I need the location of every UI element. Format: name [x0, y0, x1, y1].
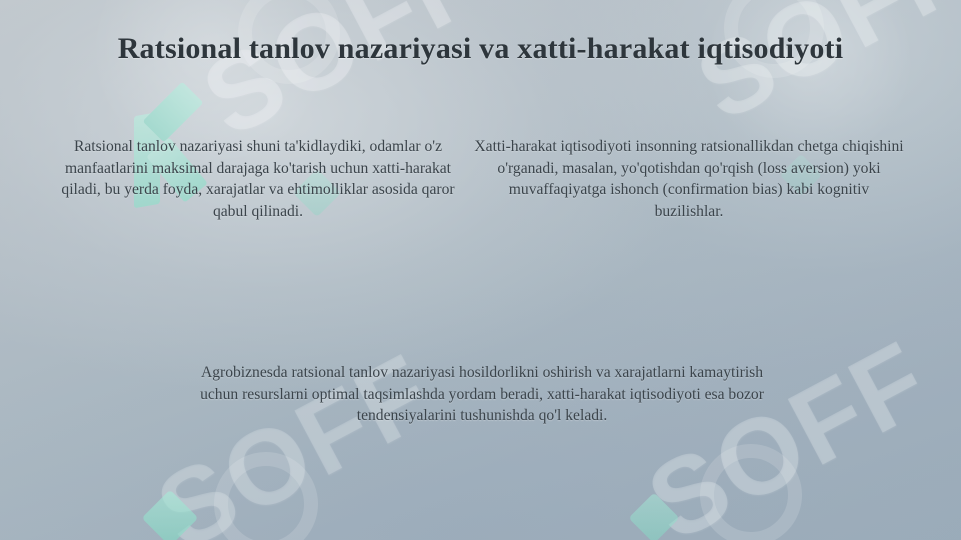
watermark-text-bottom-right: SOFF [628, 316, 948, 540]
summary-paragraph: Agrobiznesda ratsional tanlov nazariyasi… [180, 362, 784, 427]
watermark-ring-bottom-left [214, 452, 318, 540]
slide-title: Ratsional tanlov nazariyasi va xatti-har… [0, 32, 961, 66]
watermark-layer: SOFF SOFF SOFF SOFF [0, 0, 961, 540]
diamond-accent-bottom-right [629, 493, 680, 540]
watermark-ring-bottom-right [700, 444, 802, 540]
content-column-rational-choice: Ratsional tanlov nazariyasi shuni ta'kid… [60, 136, 456, 222]
slide-canvas: SOFF SOFF SOFF SOFF Ratsional tanlov naz… [0, 0, 961, 540]
content-column-behavioral-economics: Xatti-harakat iqtisodiyoti insonning rat… [474, 136, 904, 222]
diamond-accent-bottom-left [142, 490, 199, 540]
watermark-text-top-right: SOFF [679, 0, 961, 145]
logo-stroke-2 [143, 82, 204, 143]
